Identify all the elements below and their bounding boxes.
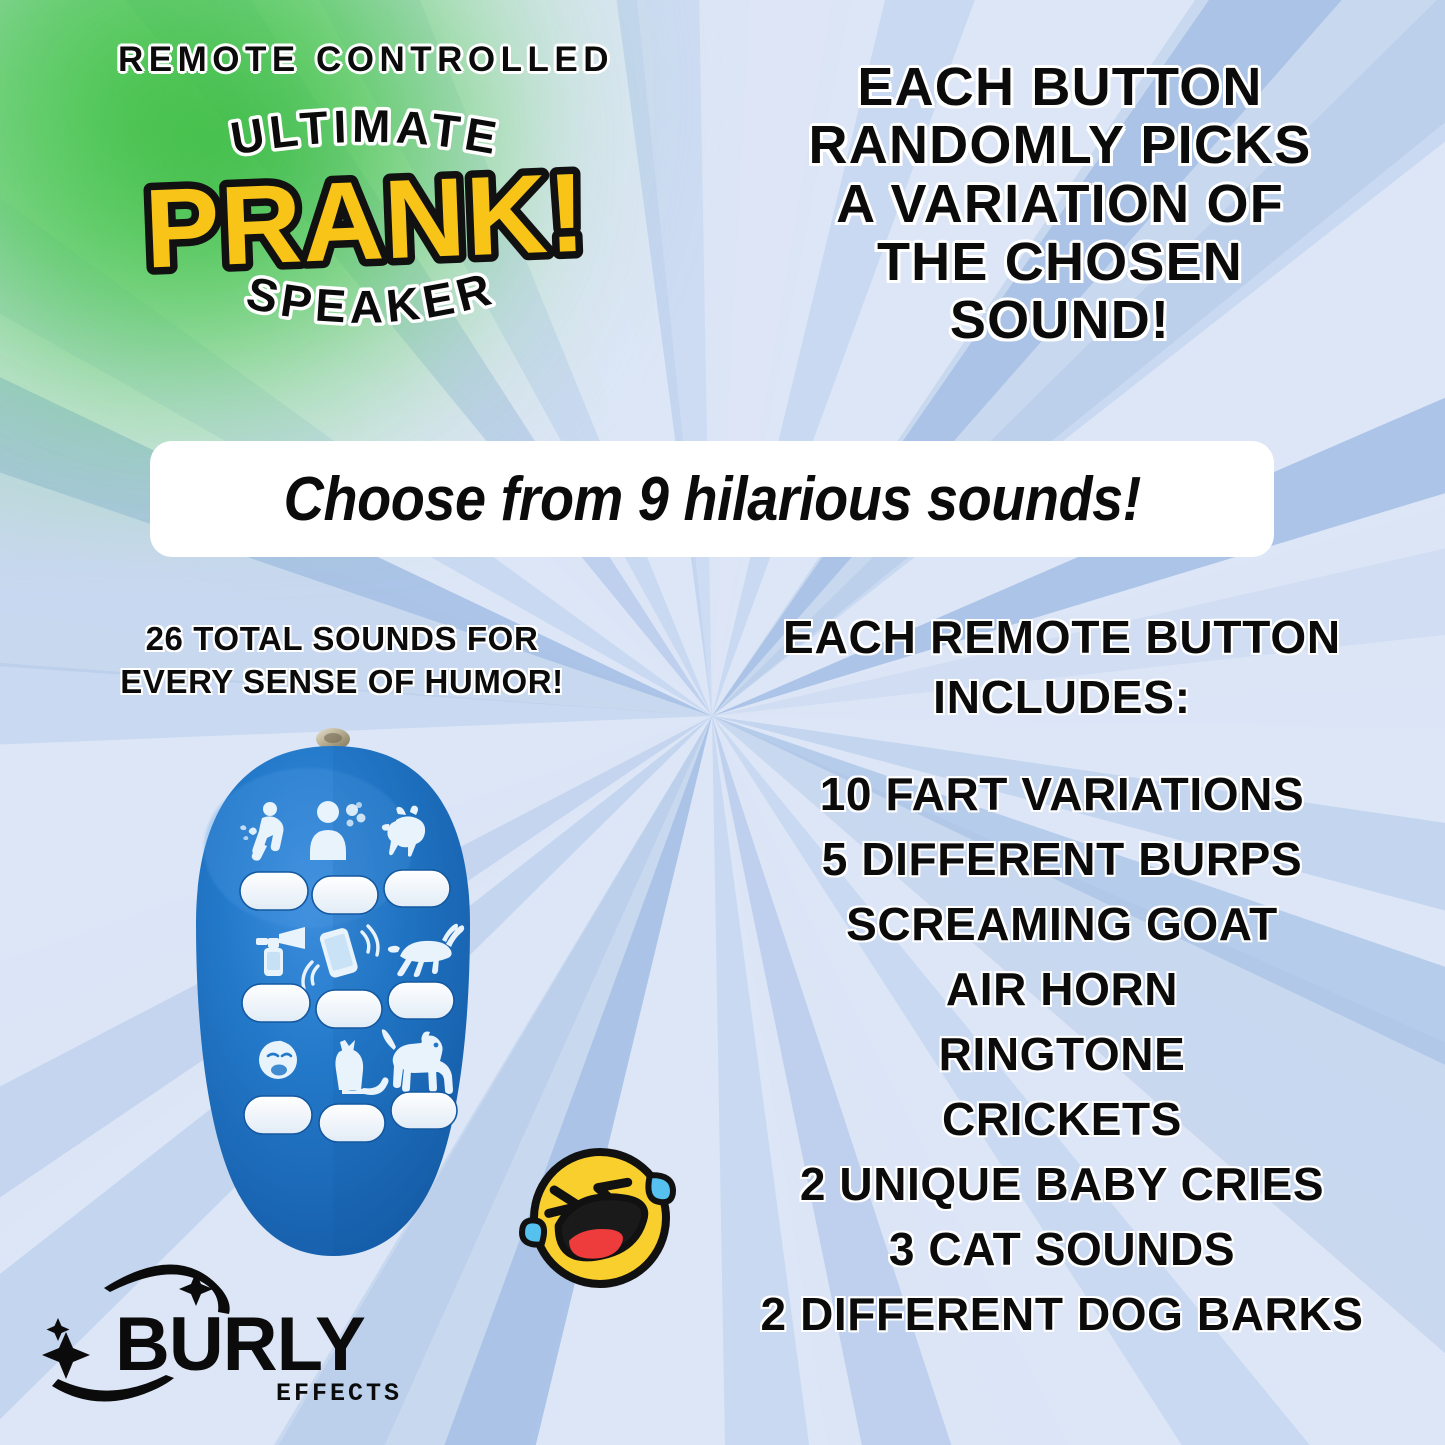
headline-line: THE CHOSEN [710,233,1410,291]
sound-list-item: 2 UNIQUE BABY CRIES [682,1152,1442,1217]
brand-name: BURLY [115,1302,365,1387]
headline-line: SOUND! [710,291,1410,349]
logo-arch-bottom-text: SPEAKER [242,265,501,333]
sound-list-subhead-line: INCLUDES: [682,668,1442,728]
sound-list-subhead-line: EACH REMOTE BUTTON [682,608,1442,668]
total-sounds-subhead: 26 TOTAL SOUNDS FOR EVERY SENSE OF HUMOR… [62,618,622,704]
crying-baby-icon [259,1041,297,1079]
highlight-banner: Choose from 9 hilarious sounds! [150,441,1274,557]
total-sounds-line: EVERY SENSE OF HUMOR! [62,661,622,704]
remote-button-goat[interactable] [384,870,450,907]
product-logo-lockup: REMOTE CONTROLLED ULTIMATE PRANK! SPEAKE… [46,18,686,348]
logo-arch-bottom: SPEAKER [46,271,686,343]
remote-button-baby[interactable] [244,1096,312,1134]
headline-block: EACH BUTTON RANDOMLY PICKS A VARIATION O… [710,58,1410,350]
remote-button-airhorn[interactable] [242,984,310,1022]
star-icon [42,1332,90,1379]
remote-button-ringtone[interactable] [316,990,382,1028]
prank-speaker-infographic: REMOTE CONTROLLED ULTIMATE PRANK! SPEAKE… [0,0,1445,1445]
sound-list-item: CRICKETS [682,1087,1442,1152]
sound-list-item: SCREAMING GOAT [682,892,1442,957]
total-sounds-line: 26 TOTAL SOUNDS FOR [62,618,622,661]
remote-button-fart[interactable] [240,872,308,910]
remote-button-cat[interactable] [319,1104,385,1142]
sound-list-item: 5 DIFFERENT BURPS [682,827,1442,892]
logo-wordmark: PRANK! [46,151,686,269]
sound-list-item: 2 DIFFERENT DOG BARKS [682,1282,1442,1347]
product-remote-image [178,728,488,1268]
remote-button-crickets[interactable] [388,982,454,1019]
sound-list: 10 FART VARIATIONS 5 DIFFERENT BURPS SCR… [682,762,1442,1348]
svg-text:SPEAKER: SPEAKER [242,265,501,333]
sound-list-item: RINGTONE [682,1022,1442,1087]
highlight-banner-text: Choose from 9 hilarious sounds! [283,464,1140,535]
headline-line: A VARIATION OF [710,175,1410,233]
sound-list-block: EACH REMOTE BUTTON INCLUDES: 10 FART VAR… [682,608,1442,1347]
brand-logo: BURLY EFFECTS [30,1248,450,1428]
remote-button-dog[interactable] [391,1092,457,1129]
emoji-tear-left [519,1218,546,1246]
headline-line: EACH BUTTON [710,58,1410,116]
sound-list-item: AIR HORN [682,957,1442,1022]
headline-line: RANDOMLY PICKS [710,116,1410,174]
remote-button-row-1[interactable] [240,870,450,914]
sound-list-item: 10 FART VARIATIONS [682,762,1442,827]
sound-list-item: 3 CAT SOUNDS [682,1217,1442,1282]
logo-kicker: REMOTE CONTROLLED [46,18,686,77]
brand-tagline: EFFECTS [276,1379,402,1408]
remote-button-burp[interactable] [312,876,378,914]
